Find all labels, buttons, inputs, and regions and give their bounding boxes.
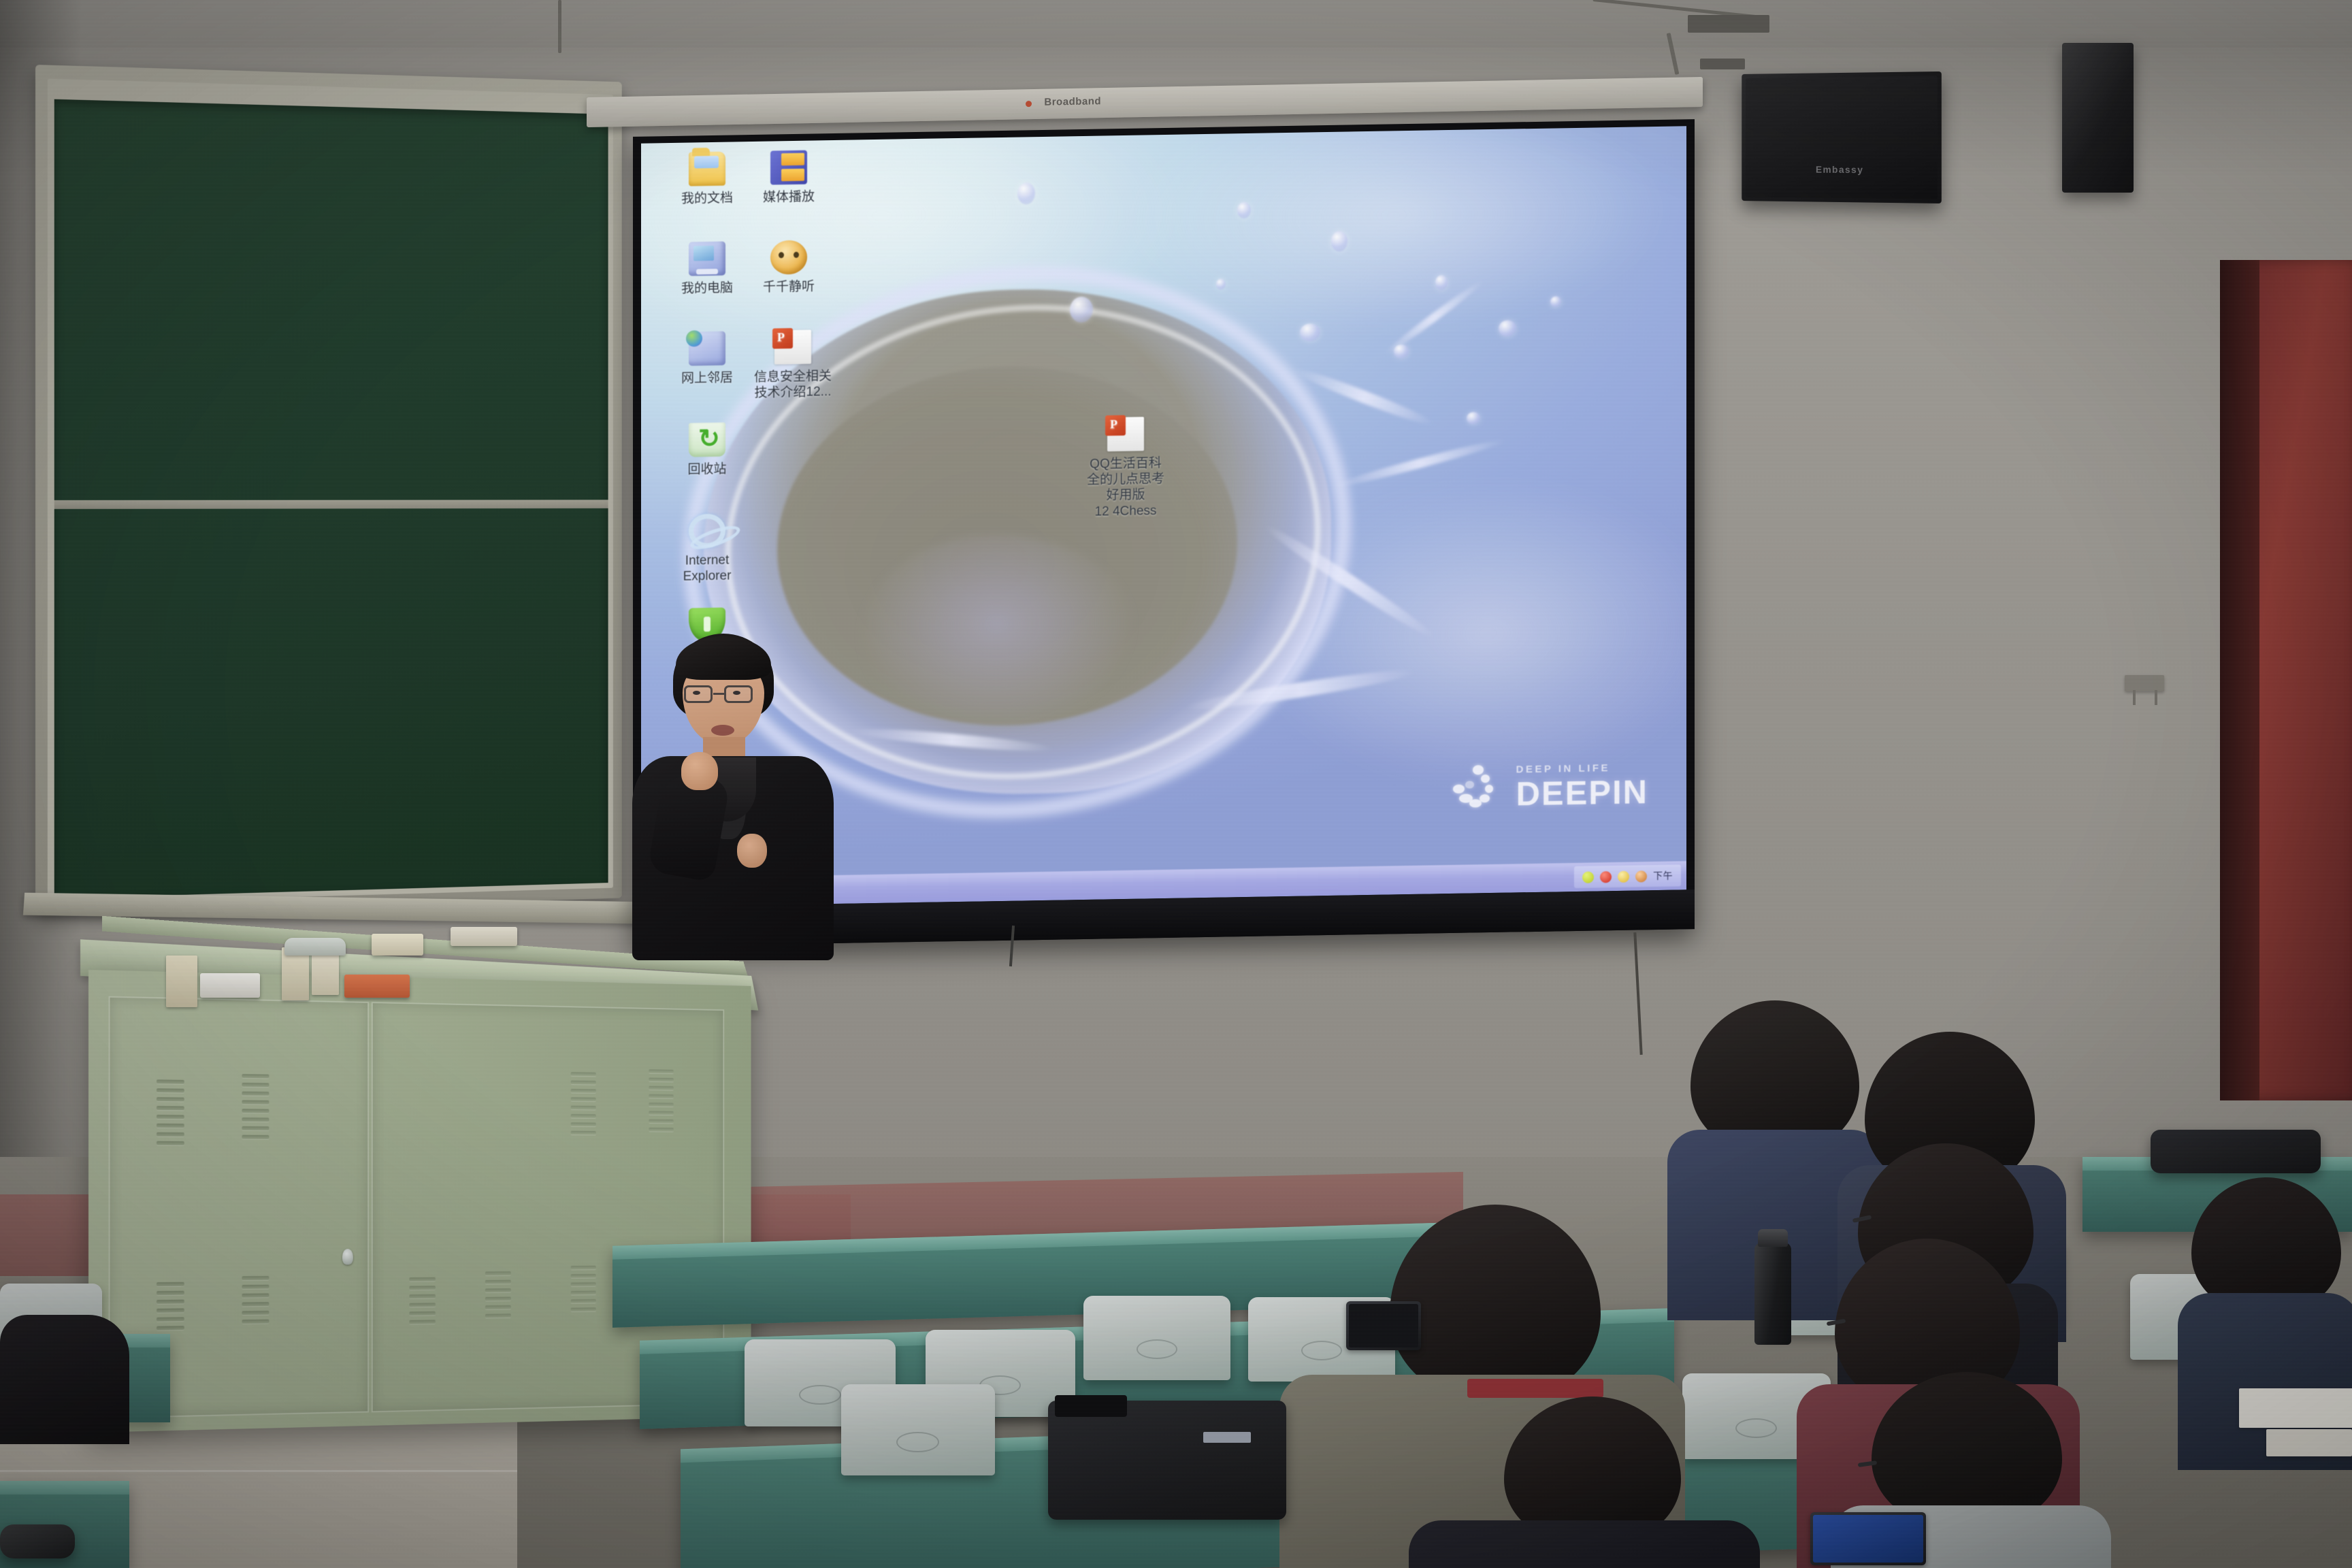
system-tray[interactable]: 下午 [1574, 864, 1681, 888]
ceiling-wire-1 [558, 0, 561, 53]
wall-speaker-main: Embassy [1742, 71, 1942, 203]
antivirus-icon[interactable] [1600, 871, 1612, 883]
desktop-icon-security-presentation[interactable]: 信息安全相关 技术介绍12... [735, 329, 851, 402]
update-icon[interactable] [1618, 870, 1629, 882]
seat-3[interactable] [841, 1384, 995, 1475]
speaker-brand-label: Embassy [1742, 163, 1942, 176]
notebook-paper[interactable] [2239, 1388, 2352, 1428]
vent-group-right-top2 [649, 1069, 674, 1132]
desktop-icon-internet-explorer[interactable]: Internet Explorer [656, 513, 758, 585]
door-opening[interactable] [2220, 260, 2259, 1100]
vent-group-right-mid [409, 1277, 436, 1324]
lanyard [1467, 1379, 1603, 1398]
chalkboard [35, 65, 622, 915]
presenter-hand-lower [737, 834, 767, 868]
presenter [616, 630, 847, 956]
chalkboard-divider [54, 500, 608, 509]
folded-jacket [2151, 1130, 2321, 1173]
computer-icon [689, 242, 725, 276]
eraser-beige[interactable] [372, 934, 423, 955]
recycle-bin-icon [689, 423, 725, 457]
wall-speaker-side [2062, 43, 2134, 193]
presenter-mouth [711, 725, 734, 736]
thermos-bottle[interactable] [1754, 1243, 1791, 1345]
glasses-lens-right-icon [724, 685, 753, 703]
vent-group-right-bottom [571, 1266, 596, 1312]
desktop-icon-media-player[interactable]: 媒体播放 [738, 150, 840, 206]
desktop-icon-music-player[interactable]: 千千静听 [738, 240, 840, 296]
glasses-lens-left-icon [684, 685, 713, 703]
deepin-tagline: DEEP IN LIFE [1516, 762, 1648, 774]
thermos-cap[interactable] [1758, 1229, 1788, 1247]
vent-group-left-top2 [242, 1074, 269, 1139]
wall-bracket-leg-left [2133, 690, 2136, 705]
presenter-fist-gesture [681, 752, 718, 790]
vent-group-right-top [571, 1072, 596, 1134]
attendee-left-edge [0, 1315, 136, 1451]
media-player-icon [770, 150, 807, 185]
floor-object-left [0, 1524, 75, 1558]
folder-icon [689, 152, 725, 186]
desktop-icon-recycle-bin[interactable]: 回收站 [656, 422, 758, 478]
vent-group-left-bottom2 [242, 1276, 269, 1324]
volume-icon[interactable] [1582, 871, 1594, 883]
wall-bracket [2125, 675, 2164, 691]
eraser-rail-right[interactable] [451, 927, 517, 946]
tray-clock: 下午 [1653, 869, 1673, 883]
chalk-clip[interactable] [284, 938, 346, 955]
housing-led-icon [1026, 101, 1032, 107]
desktop-icon-qq-life[interactable]: QQ生活百科 全的儿点思考 好用版 12 4Chess [1058, 416, 1194, 520]
chalk-stick-1[interactable] [166, 955, 197, 1007]
chalkboard-surface [54, 99, 608, 898]
ceiling-mount-bracket [1688, 15, 1769, 33]
attendee-black-puffer [1409, 1396, 1763, 1568]
presenter-hair-front [676, 636, 771, 680]
attendee-torso [1409, 1520, 1760, 1568]
glasses-bridge-icon [713, 693, 724, 695]
wall-bracket-leg-right [2155, 690, 2157, 705]
classroom-scene: Broadband [0, 0, 2352, 1568]
housing-brand-label: Broadband [1044, 95, 1101, 108]
document-file-icon [1107, 416, 1144, 451]
network-neighborhood-icon [689, 331, 725, 366]
deepin-logo: DEEP IN LIFE DEEPIN [1452, 761, 1648, 813]
deepin-mark-icon [1452, 764, 1505, 813]
deepin-wordmark: DEEPIN [1516, 776, 1648, 811]
powerpoint-file-icon [774, 330, 811, 365]
internet-explorer-icon [689, 514, 725, 549]
vent-group-right-mid2 [485, 1271, 511, 1318]
user-face-icon [770, 240, 807, 275]
notebook-paper-2[interactable] [2266, 1429, 2352, 1456]
smartphone-held[interactable] [1346, 1301, 1421, 1350]
seat-4[interactable] [1083, 1296, 1230, 1380]
attendee-torso [0, 1315, 129, 1444]
network-icon[interactable] [1635, 870, 1647, 882]
eraser-red[interactable] [344, 975, 410, 998]
vent-group-left-bottom [157, 1282, 184, 1330]
eraser-white[interactable] [200, 973, 260, 998]
smartphone-on-desk[interactable] [1810, 1512, 1926, 1565]
attendee-head [1390, 1205, 1601, 1401]
lectern-lock[interactable] [342, 1249, 353, 1264]
speaker-mount-bracket [1700, 59, 1745, 69]
laptop-bag[interactable] [1048, 1401, 1286, 1520]
vent-group-left-top [157, 1079, 184, 1145]
